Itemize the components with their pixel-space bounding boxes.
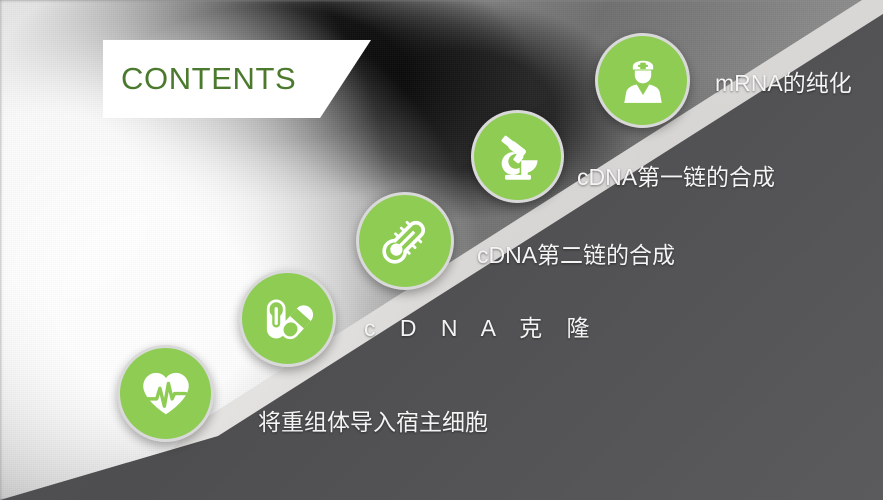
microscope-icon	[492, 131, 544, 183]
step-circle-5[interactable]	[117, 345, 214, 442]
page-title: CONTENTS	[121, 57, 296, 101]
step-circle-3[interactable]	[356, 192, 454, 290]
pills-icon	[262, 293, 314, 345]
step-label-4: c D N A 克 隆	[364, 309, 598, 343]
step-circle-4[interactable]	[239, 270, 336, 367]
slide-canvas: CONTENTS mRNA的纯化 cDN	[0, 0, 883, 500]
heart-pulse-icon	[140, 368, 192, 420]
step-circle-2[interactable]	[471, 110, 564, 203]
thermometer-icon	[379, 215, 431, 267]
step-label-2: cDNA第一链的合成	[577, 158, 775, 192]
step-circle-1[interactable]	[595, 33, 690, 128]
step-label-3: cDNA第二链的合成	[477, 236, 675, 270]
step-label-1: mRNA的纯化	[715, 64, 852, 98]
doctor-icon	[618, 56, 668, 106]
step-label-5: 将重组体导入宿主细胞	[258, 403, 488, 437]
